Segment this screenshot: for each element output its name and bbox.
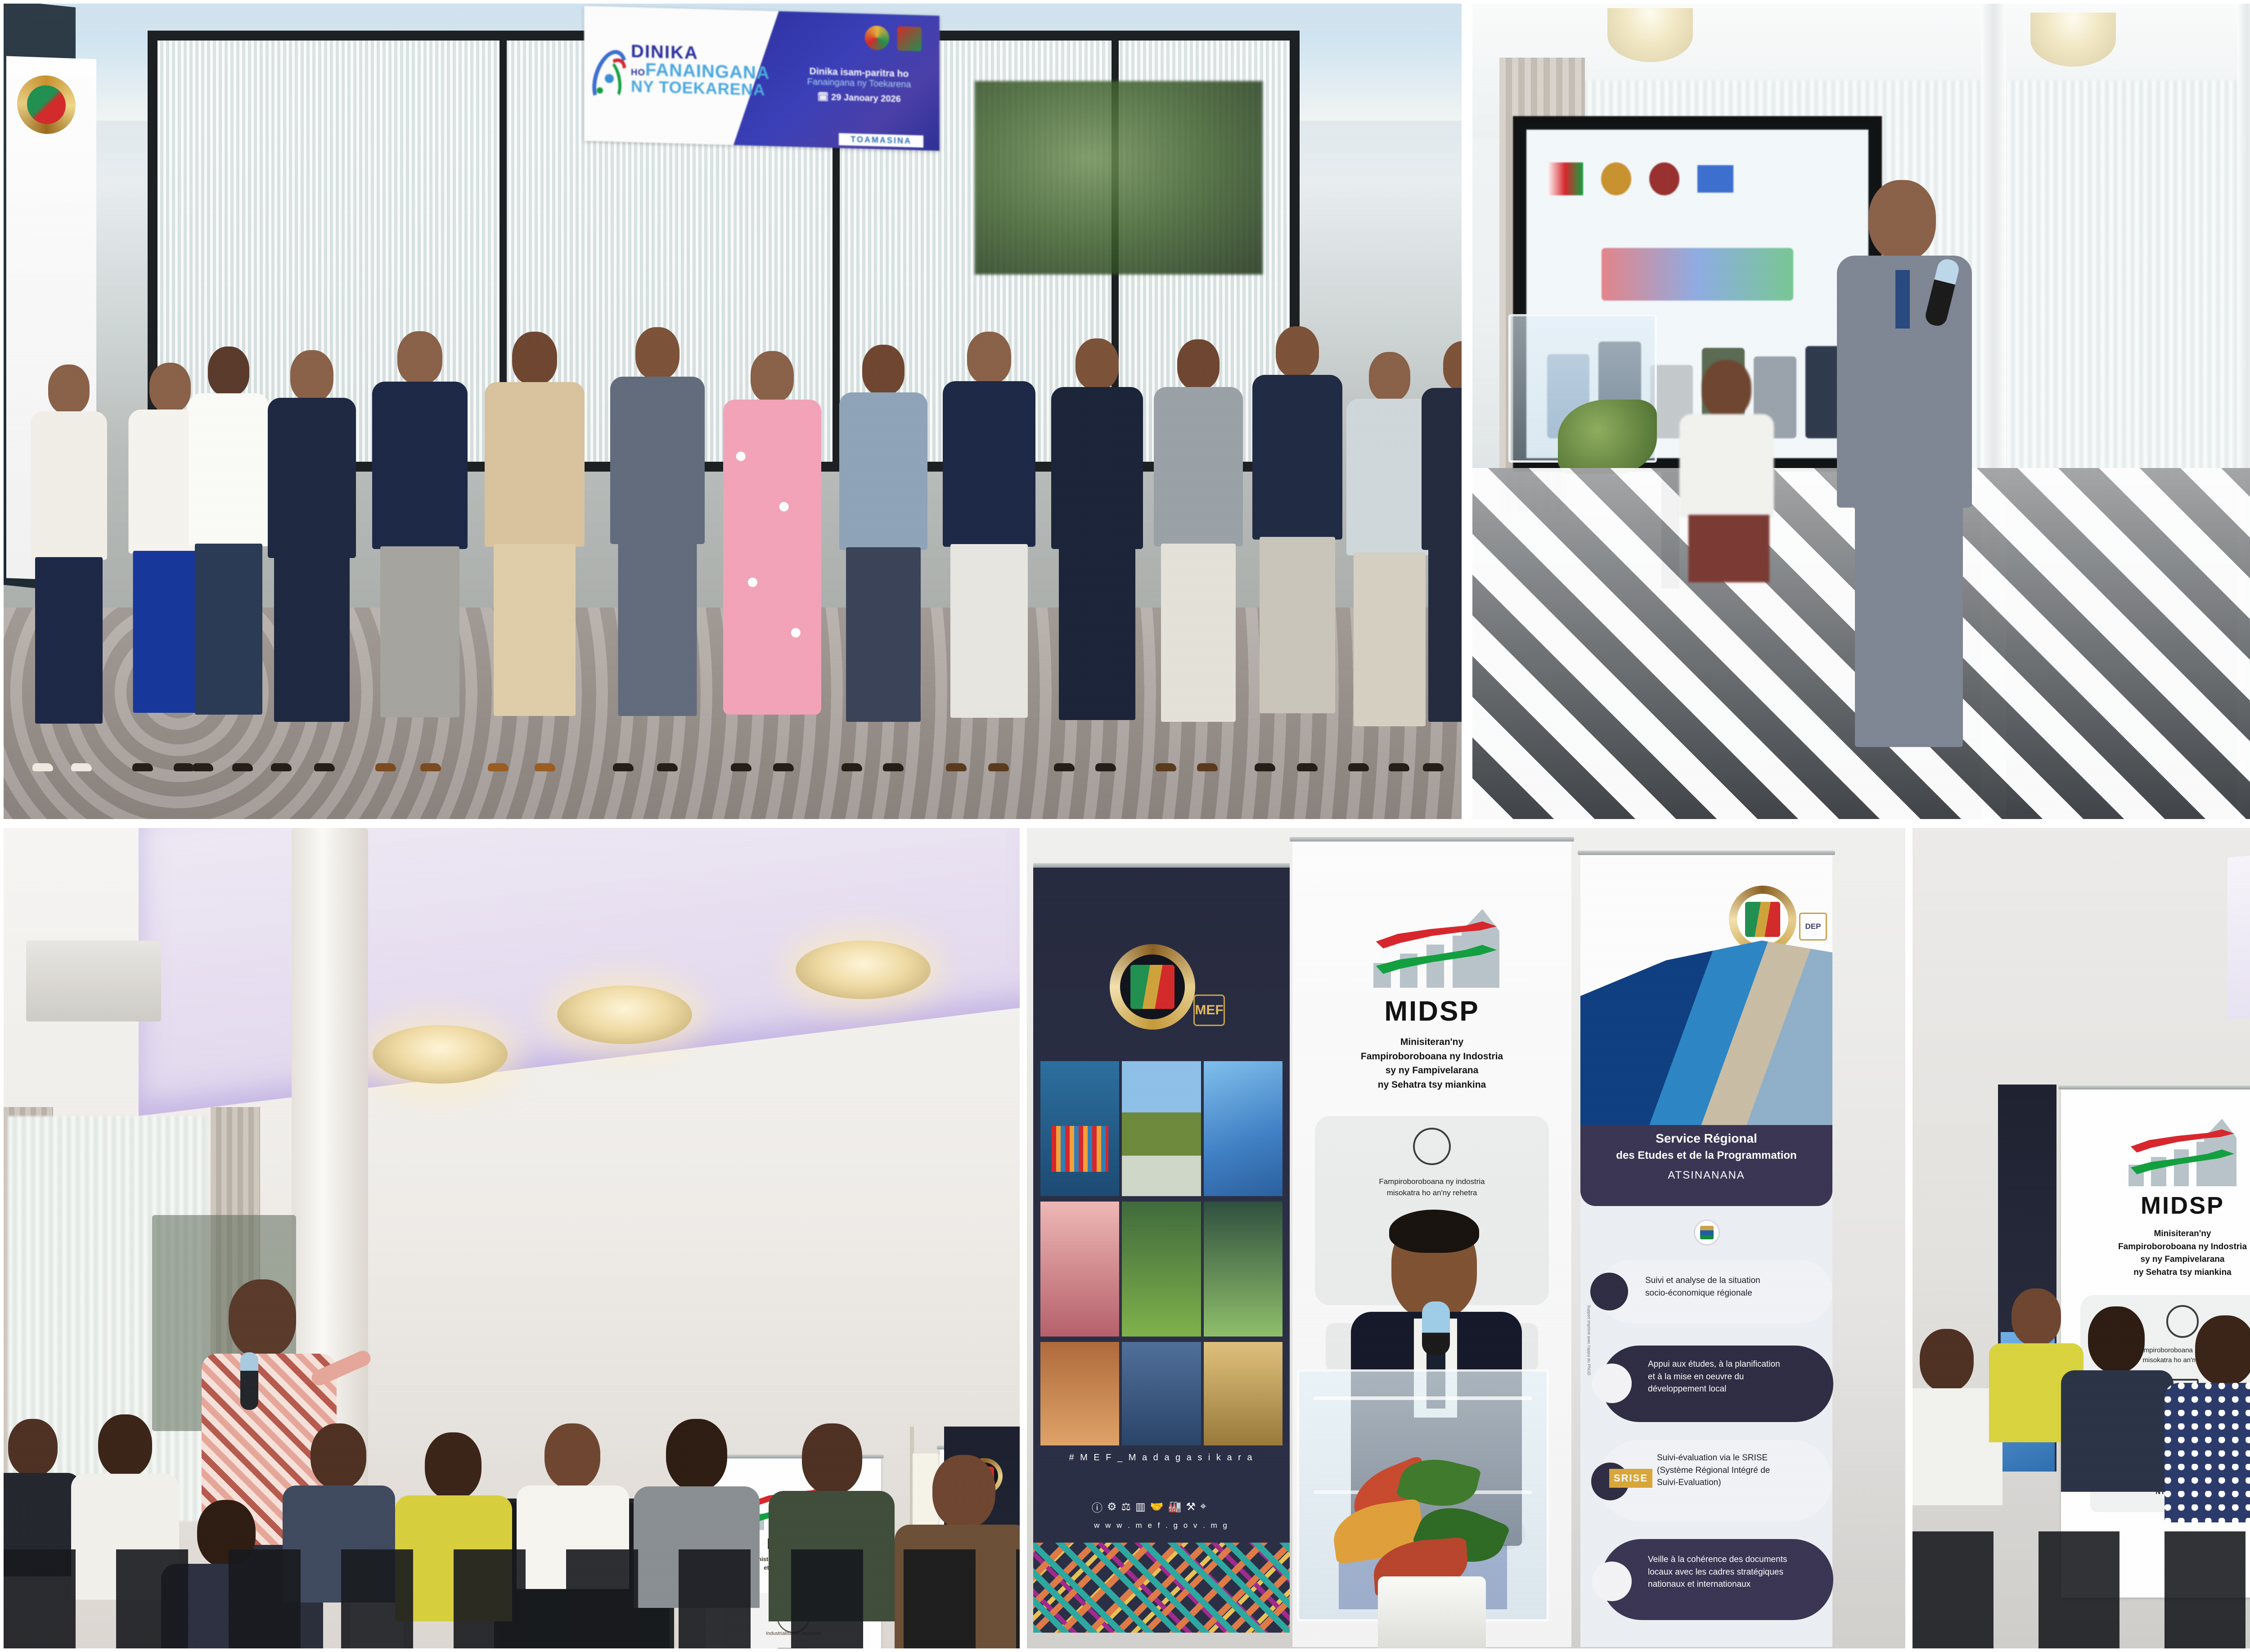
mef-seal-icon xyxy=(1110,944,1195,1030)
srise-icon: SRISE xyxy=(1609,1469,1652,1488)
srep-title-1: Service Régional xyxy=(1580,1131,1832,1146)
photo-collage: DINIKA HOFANAINGANA NY TOEKARENA Dinika … xyxy=(0,0,2250,1652)
dep-badge: DEP xyxy=(1799,913,1827,941)
midsp-ministry-line4: ny Sehatra tsy miankina xyxy=(1304,1078,1560,1092)
mef-hashtag: # M E F _ M a d a g a s i k a r a xyxy=(1038,1453,1285,1463)
officials-group xyxy=(4,266,1462,770)
growth-chart-icon xyxy=(1590,1273,1628,1310)
srep-bullet-3-line1: Suivi-évaluation via le SRISE xyxy=(1657,1452,1828,1464)
hand-gear-icon xyxy=(1592,1364,1632,1403)
midsp-logo-icon xyxy=(897,26,922,51)
gavel-icon: ⚒ xyxy=(1186,1500,1196,1513)
srep-bullet-4-line2: locaux avec les cadres stratégiques xyxy=(1648,1566,1828,1579)
midsp-bullet-1-line1: Fampiroboroboana ny indostria xyxy=(1324,1176,1539,1188)
srep-bullet-1-line1: Suivi et analyse de la situation xyxy=(1645,1274,1825,1287)
potted-plant xyxy=(1324,1455,1558,1648)
srep-bullet-2-line2: et à la mise en oeuvre du xyxy=(1648,1371,1828,1383)
banner-city: TOAMASINA xyxy=(839,133,923,148)
microphone-icon xyxy=(1422,1301,1450,1355)
photo-group-officials: DINIKA HOFANAINGANA NY TOEKARENA Dinika … xyxy=(4,4,1462,819)
gears-icon: ⚙ xyxy=(1107,1500,1117,1513)
map-pin-icon: ⌖ xyxy=(1200,1500,1206,1513)
align-arrows-icon xyxy=(1592,1562,1632,1601)
calendar-icon: 🗓 xyxy=(817,92,828,102)
mef-badge: MEF xyxy=(1193,995,1225,1026)
srep-bullet-3-line2: (Système Régional Intégré de xyxy=(1657,1464,1828,1477)
srep-bullet-1-line2: socio-économique régionale xyxy=(1645,1287,1825,1300)
photo-participant-question: MIDSP Ministère de l'Industrialisation e… xyxy=(4,828,1020,1648)
mef-seal-icon xyxy=(865,25,889,50)
srep-bullet: SRISE Suivi-évaluation via le SRISE (Sys… xyxy=(1598,1440,1832,1521)
midsp-ministry-line1: Minisiteran'ny xyxy=(1304,1035,1560,1049)
srep-bullet: Suivi et analyse de la situation socio-é… xyxy=(1598,1260,1832,1323)
midsp-logo-icon xyxy=(1373,909,1499,988)
midsp-ministry-line3: sy ny Fampivelarana xyxy=(1304,1063,1560,1078)
speaker-with-microphone xyxy=(1819,180,1990,765)
srep-bullet-3-line3: Suivi-Evaluation) xyxy=(1657,1476,1828,1489)
roll-up-banner-mef: MEF xyxy=(1033,868,1290,1633)
region-seal-icon xyxy=(1694,1220,1720,1246)
audience-rows xyxy=(1912,1207,2250,1648)
roll-up-banner-srep: DEP Service Régional des Etudes et de la… xyxy=(1580,855,1832,1647)
srep-bullet-2-line3: développement local xyxy=(1648,1383,1828,1395)
midsp-logo-icon xyxy=(2128,1119,2236,1186)
midsp-label: MIDSP xyxy=(1292,995,1571,1027)
mef-seal-icon xyxy=(17,74,76,135)
banner-date: 29 Janoary 2026 xyxy=(831,92,901,104)
srep-region: ATSINANANA xyxy=(1580,1169,1832,1182)
mef-website: w w w . m e f . g o v . m g xyxy=(1038,1521,1285,1530)
handshake-icon: 🤝 xyxy=(1150,1500,1164,1513)
srep-bullet-2-line1: Appui aux études, à la planification xyxy=(1648,1358,1828,1371)
bar-chart-icon: ▥ xyxy=(1135,1500,1146,1513)
photo-podium-speaker: MEF xyxy=(1027,828,1905,1648)
scales-icon: ⚖ xyxy=(1121,1500,1131,1513)
srep-bullet: Veille à la cohérence des documents loca… xyxy=(1601,1539,1833,1620)
midsp-bullet-1-line2: misokatra ho an'ny rehetra xyxy=(1324,1188,1539,1199)
srep-title-2: des Etudes et de la Programmation xyxy=(1580,1149,1832,1162)
info-icon: ⓘ xyxy=(1092,1499,1102,1515)
srep-side-note: Support imprimé avec l'appui du PNUD xyxy=(1587,1305,1591,1375)
audience-rows xyxy=(4,1369,1020,1648)
dinika-logo-icon xyxy=(591,45,630,114)
srep-bullet: Appui aux études, à la planification et … xyxy=(1601,1346,1833,1422)
midsp-ministry-line2: Fampiroboroboana ny Indostria xyxy=(1304,1049,1560,1064)
factory-icon: 🏭 xyxy=(1168,1500,1182,1513)
photo-audience-screen: MIDSP Minisiteran'ny Fampiroboroboana ny… xyxy=(1912,828,2250,1648)
banner-title-line3: NY TOEKARENA xyxy=(631,78,766,98)
srep-bullet-4-line1: Veille à la cohérence des documents xyxy=(1648,1553,1828,1566)
event-banner: DINIKA HOFANAINGANA NY TOEKARENA Dinika … xyxy=(584,6,940,151)
mef-icon-row: ⓘ ⚙ ⚖ ▥ 🤝 🏭 ⚒ ⌖ xyxy=(1092,1498,1236,1516)
photo-speaker-audience xyxy=(1472,4,2250,819)
toamasina-port-photo xyxy=(1580,941,1832,1139)
banner-title-prefix: HO xyxy=(631,68,645,78)
factory-people-icon xyxy=(1413,1128,1450,1165)
srep-bullet-4-line3: nationaux et internationaux xyxy=(1648,1578,1828,1591)
